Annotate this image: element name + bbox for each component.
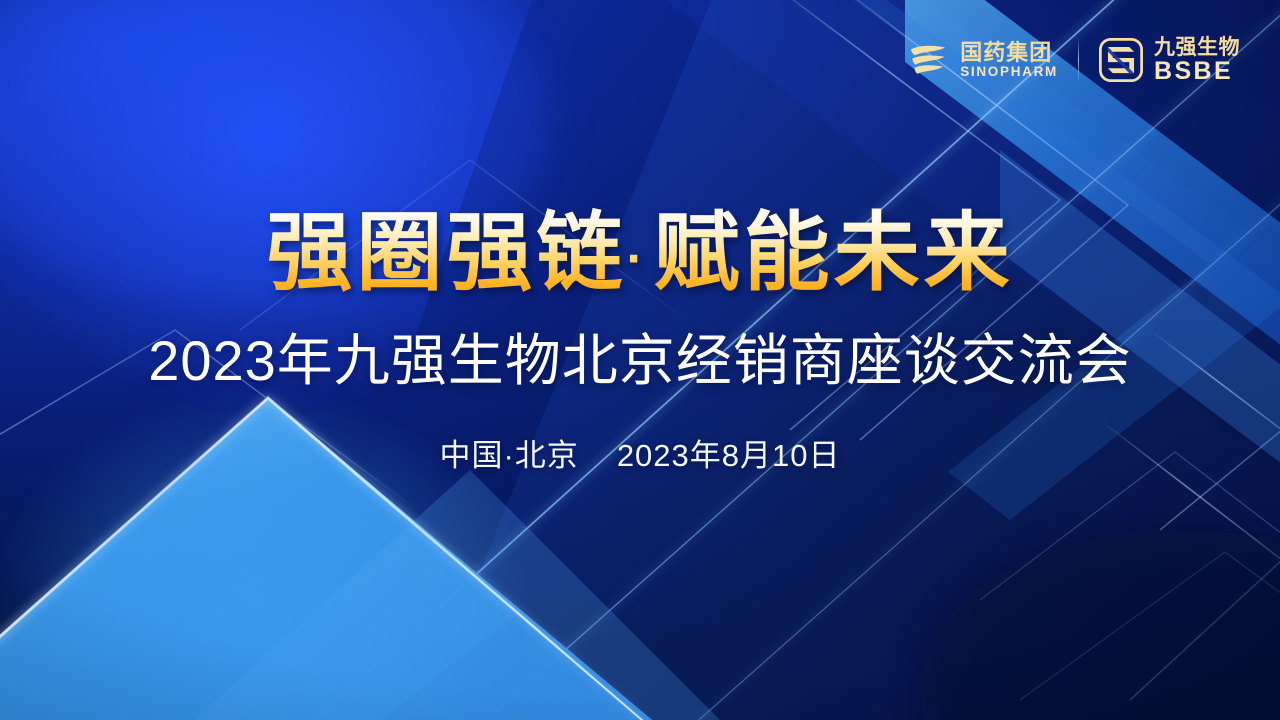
event-date: 2023年8月10日 (617, 438, 841, 473)
bsbe-s-mark (1099, 38, 1143, 82)
event-location: 中国·北京 (439, 438, 578, 473)
poster-headline: 强圈强链·赋能未来 (0, 208, 1280, 298)
sinopharm-wordmark: 国药集团 SINOPHARM (960, 41, 1058, 80)
bsbe-en-name: BSBE (1154, 59, 1240, 84)
poster-canvas: 国药集团 SINOPHARM 九强生物 BSBE 强圈强链·赋能未来 2023年… (0, 0, 1280, 720)
headline-part-1: 强圈强链 (266, 205, 626, 301)
bsbe-logo: 九强生物 BSBE (1099, 36, 1240, 84)
sinopharm-logo: 国药集团 SINOPHARM (907, 39, 1058, 81)
sinopharm-ribbon-mark (907, 39, 949, 81)
poster-meta: 中国·北京2023年8月10日 (0, 430, 1280, 475)
sinopharm-en-name: SINOPHARM (960, 65, 1058, 80)
poster-content: 强圈强链·赋能未来 2023年九强生物北京经销商座谈交流会 中国·北京2023年… (0, 0, 1280, 720)
poster-subtitle: 2023年九强生物北京经销商座谈交流会 (0, 330, 1280, 393)
headline-part-2: 赋能未来 (654, 205, 1014, 301)
headline-separator-dot: · (626, 230, 653, 288)
bsbe-cn-name: 九强生物 (1154, 36, 1240, 59)
sinopharm-cn-name: 国药集团 (960, 41, 1058, 65)
bsbe-wordmark: 九强生物 BSBE (1154, 36, 1240, 84)
logo-bar: 国药集团 SINOPHARM 九强生物 BSBE (907, 36, 1240, 84)
logo-divider (1078, 37, 1079, 83)
